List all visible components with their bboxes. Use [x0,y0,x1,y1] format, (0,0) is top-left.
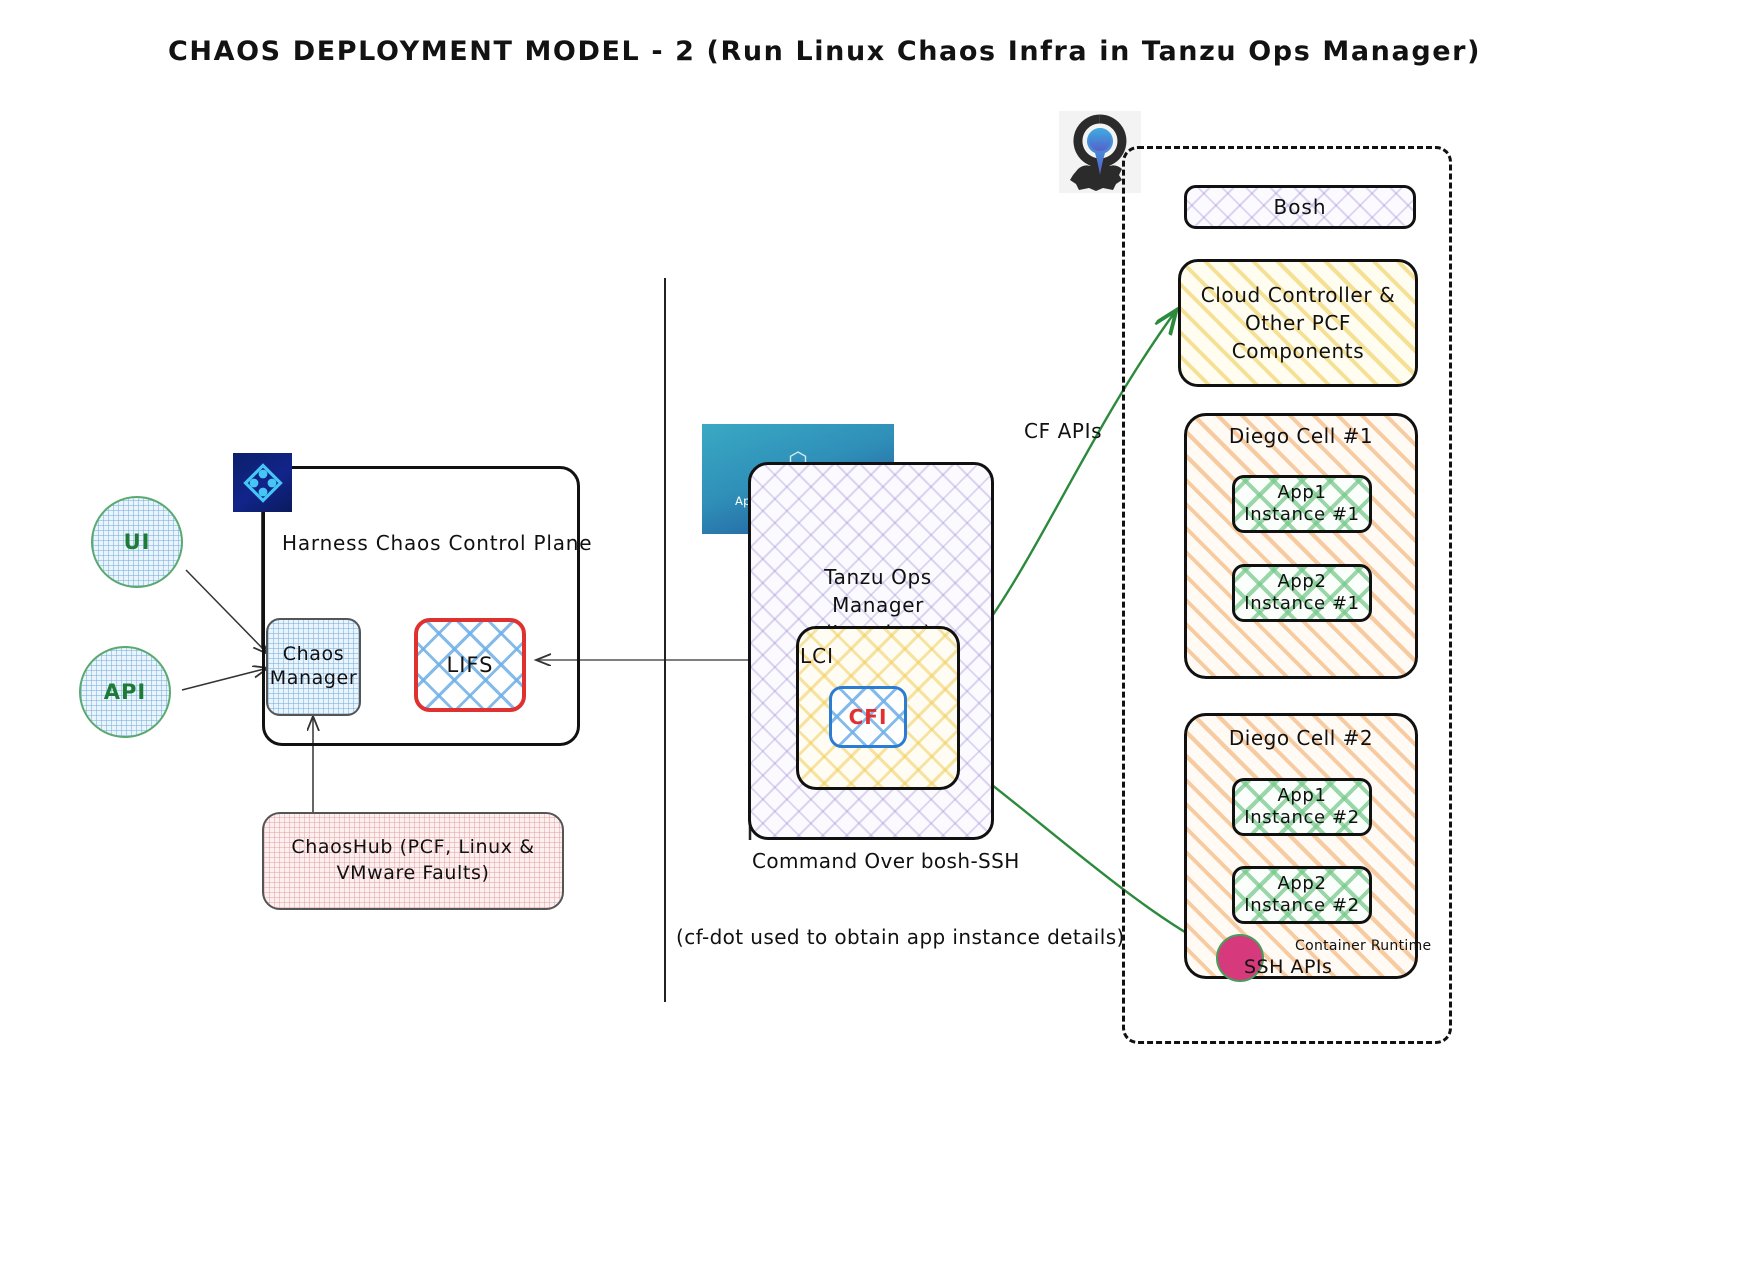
chaoshub-node[interactable]: ChaosHub (PCF, Linux & VMware Faults) [262,812,564,910]
app2-instance1-line1: App2 [1277,571,1326,594]
container-runtime-label: Container Runtime [1295,938,1431,954]
cf-apis-label: CF APIs [1024,419,1102,443]
bosh-label: Bosh [1273,195,1326,219]
edge-api-to-chaos-manager [182,668,268,690]
api-node[interactable]: API [79,646,171,738]
app1-instance2-line2: Instance #2 [1244,807,1359,830]
app1-instance1-box[interactable]: App1 Instance #1 [1232,475,1372,533]
app1-instance1-line2: Instance #1 [1244,504,1359,527]
app2-instance2-line1: App2 [1277,873,1326,896]
command-over-bosh-ssh-note: Command Over bosh-SSH [752,849,1020,873]
tanzu-ops-manager-label-line1: Tanzu Ops Manager [778,563,978,619]
cfdot-note: (cf-dot used to obtain app instance deta… [676,925,1125,949]
harness-logo-glyph [243,463,283,503]
vertical-divider [664,278,666,1002]
chaoshub-label-line2: VMware Faults) [336,861,489,887]
app1-instance1-line1: App1 [1277,482,1326,505]
page-title: CHAOS DEPLOYMENT MODEL - 2 (Run Linux Ch… [168,36,1481,67]
cloud-controller-line2: Other PCF Components [1181,309,1415,365]
api-node-label: API [104,680,146,704]
diego-cell-1-box [1184,413,1418,679]
lifs-label: LIFS [447,653,494,677]
control-plane-label: Harness Chaos Control Plane [282,531,592,555]
edge-ui-to-chaos-manager [186,570,268,654]
cfi-label: CFI [849,705,888,729]
diego-cell-1-label: Diego Cell #1 [1181,424,1421,448]
bosh-box[interactable]: Bosh [1184,185,1416,229]
harness-logo [233,453,292,512]
app2-instance1-box[interactable]: App2 Instance #1 [1232,564,1372,622]
app1-instance2-box[interactable]: App1 Instance #2 [1232,778,1372,836]
chaos-manager-label-line1: Chaos [283,643,344,667]
app2-instance2-box[interactable]: App2 Instance #2 [1232,866,1372,924]
ui-node-label: UI [124,530,151,554]
cfi-node[interactable]: CFI [829,686,907,748]
cloud-controller-box[interactable]: Cloud Controller & Other PCF Components [1178,259,1418,387]
app1-instance2-line1: App1 [1277,785,1326,808]
chaoshub-label-line1: ChaosHub (PCF, Linux & [291,835,534,861]
diego-cell-2-label: Diego Cell #2 [1181,726,1421,750]
cloud-controller-line1: Cloud Controller & [1201,281,1396,309]
lifs-node[interactable]: LIFS [414,618,526,712]
app2-instance2-line2: Instance #2 [1244,895,1359,918]
ui-node[interactable]: UI [91,496,183,588]
chaos-manager-node[interactable]: Chaos Manager [266,618,361,716]
ssh-apis-label: SSH APIs [1244,956,1332,978]
chaos-manager-label-line2: Manager [270,667,357,691]
app2-instance1-line2: Instance #1 [1244,593,1359,616]
lci-label: LCI [800,644,834,668]
